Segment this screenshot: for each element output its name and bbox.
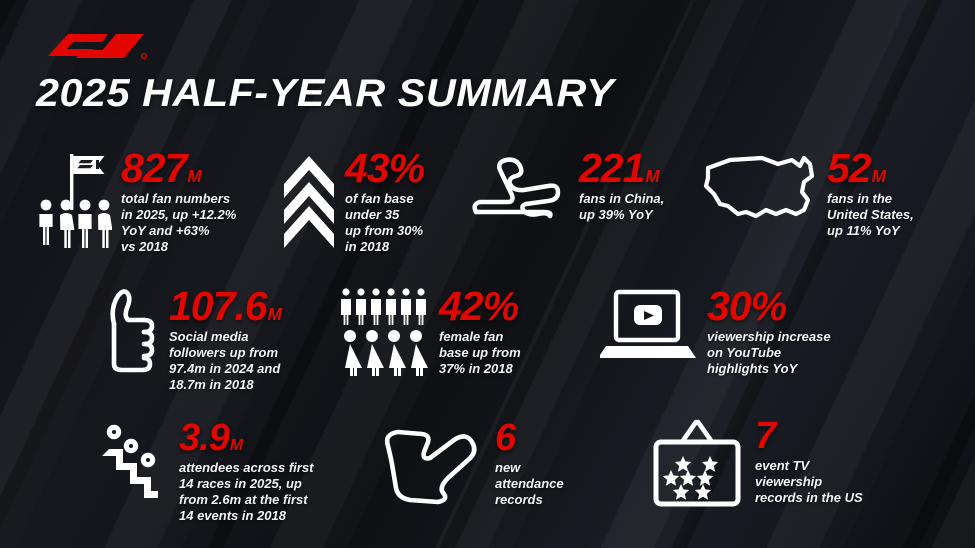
stat-under-35: 43% of fan base under 35 up from 30% in … bbox=[282, 148, 425, 255]
stat-description: female fan base up from 37% in 2018 bbox=[439, 329, 521, 377]
stat-tv-records: 7 event TV viewership records in the US bbox=[648, 418, 863, 515]
stat-female-fanbase: 42% female fan base up from 37% in 2018 bbox=[338, 286, 521, 381]
svg-text:R: R bbox=[143, 54, 146, 59]
stat-value: 43% bbox=[345, 150, 425, 186]
stat-usa-fans: 52M fans in the United States, up 11% Yo… bbox=[700, 148, 914, 239]
fans-with-flag-icon bbox=[36, 148, 112, 257]
crowd-icon bbox=[338, 286, 430, 381]
stat-value: 221M bbox=[579, 150, 664, 186]
stat-social-followers: 107.6M Social media followers up from 97… bbox=[100, 286, 282, 393]
stat-value: 30% bbox=[707, 288, 831, 324]
grandstand-steps-icon bbox=[100, 420, 170, 515]
stat-description: viewership increase on YouTube highlight… bbox=[707, 329, 831, 377]
stat-value: 3.9M bbox=[179, 422, 313, 455]
stat-attendance-records: 6 new attendance records bbox=[376, 420, 564, 511]
circuit-outline-icon bbox=[376, 420, 486, 511]
stat-value: 7 bbox=[755, 420, 863, 453]
stat-description: total fan numbers in 2025, up +12.2% YoY… bbox=[121, 191, 236, 254]
f1-logo: R bbox=[46, 26, 150, 66]
stat-total-fans: 827M total fan numbers in 2025, up +12.2… bbox=[36, 148, 236, 257]
stat-attendees: 3.9M attendees across first 14 races in … bbox=[100, 420, 313, 524]
infographic-poster: R 2025 HALF-YEAR SUMMARY bbox=[0, 0, 975, 548]
stat-value: 6 bbox=[495, 422, 564, 455]
stat-value: 52M bbox=[827, 150, 914, 186]
united-states-map-icon bbox=[700, 148, 818, 233]
stat-description: Social media followers up from 97.4m in … bbox=[169, 329, 282, 392]
stat-description: event TV viewership records in the US bbox=[755, 458, 863, 506]
stat-description: new attendance records bbox=[495, 460, 564, 508]
stat-description: fans in China, up 39% YoY bbox=[579, 191, 664, 223]
shanghai-circuit-icon bbox=[466, 148, 570, 233]
stat-description: of fan base under 35 up from 30% in 2018 bbox=[345, 191, 425, 254]
stat-value: 107.6M bbox=[169, 288, 282, 324]
stat-youtube-viewership: 30% viewership increase on YouTube highl… bbox=[600, 286, 831, 377]
stat-description: attendees across first 14 races in 2025,… bbox=[179, 460, 313, 523]
stat-value: 42% bbox=[439, 288, 521, 324]
laptop-youtube-icon bbox=[600, 286, 698, 371]
thumbs-up-icon bbox=[100, 286, 160, 381]
chevrons-up-icon bbox=[282, 148, 336, 253]
page-title: 2025 HALF-YEAR SUMMARY bbox=[36, 72, 614, 116]
stat-china-fans: 221M fans in China, up 39% YoY bbox=[466, 148, 664, 233]
television-stars-icon bbox=[648, 418, 746, 515]
stat-description: fans in the United States, up 11% YoY bbox=[827, 191, 914, 239]
stat-value: 827M bbox=[121, 150, 236, 186]
